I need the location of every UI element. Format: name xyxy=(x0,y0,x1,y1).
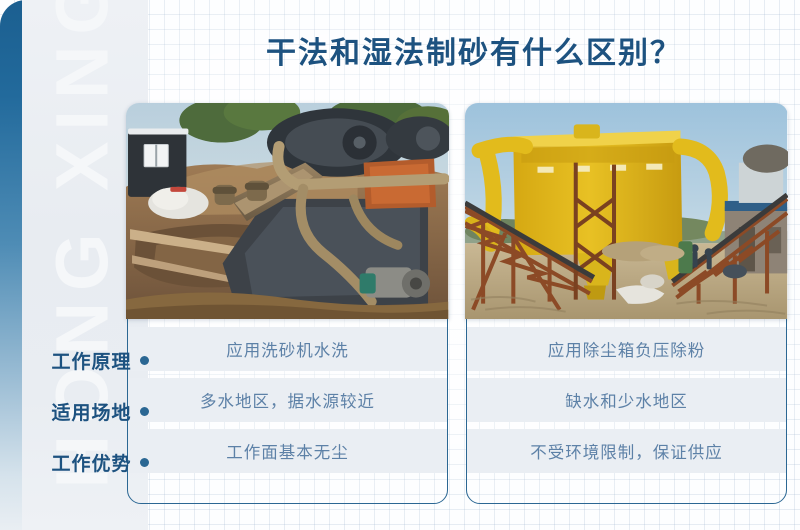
comparison-cards: 应用洗砂机水洗 多水地区，据水源较近 工作面基本无尘 xyxy=(127,104,787,504)
row-label-site: 适用场地 xyxy=(8,389,148,433)
page-title: 干法和湿法制砂有什么区别？ xyxy=(148,28,800,72)
photo-wet-method xyxy=(126,103,448,319)
row-value: 应用洗砂机水洗 xyxy=(128,327,447,371)
row-value: 不受环境限制，保证供应 xyxy=(467,429,786,473)
row-label-text: 适用场地 xyxy=(51,398,131,425)
photo-wet-method-illustration xyxy=(126,103,448,319)
row-value: 工作面基本无尘 xyxy=(128,429,447,473)
bullet-dot-icon xyxy=(140,407,149,416)
rows-wet-method: 应用洗砂机水洗 多水地区，据水源较近 工作面基本无尘 xyxy=(128,319,447,503)
row-value: 应用除尘箱负压除粉 xyxy=(467,327,786,371)
photo-dry-method-illustration xyxy=(465,103,787,319)
row-label-advantage: 工作优势 xyxy=(8,440,148,484)
row-value: 缺水和少水地区 xyxy=(467,378,786,422)
row-value: 多水地区，据水源较近 xyxy=(128,378,447,422)
infographic-page: HONG XING 干法和湿法制砂有什么区别？ xyxy=(0,0,800,530)
row-label-text: 工作原理 xyxy=(51,347,131,374)
card-wet-method: 应用洗砂机水洗 多水地区，据水源较近 工作面基本无尘 xyxy=(127,104,448,504)
bullet-dot-icon xyxy=(140,356,149,365)
row-label-column: 工作原理 适用场地 工作优势 xyxy=(0,0,148,530)
card-dry-method: 应用除尘箱负压除粉 缺水和少水地区 不受环境限制，保证供应 xyxy=(466,104,787,504)
bullet-dot-icon xyxy=(140,458,149,467)
row-label-principle: 工作原理 xyxy=(8,338,148,382)
photo-dry-method xyxy=(465,103,787,319)
row-label-text: 工作优势 xyxy=(51,449,131,476)
rows-dry-method: 应用除尘箱负压除粉 缺水和少水地区 不受环境限制，保证供应 xyxy=(467,319,786,503)
